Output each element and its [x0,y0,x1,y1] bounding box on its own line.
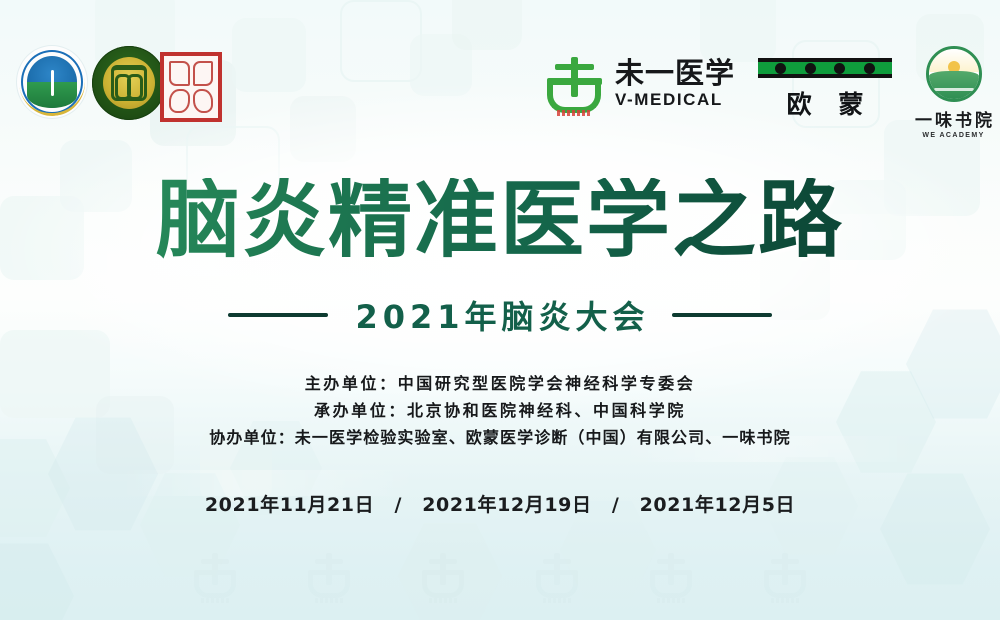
we-academy-mark-icon [926,46,982,102]
organizer-undertaker: 承办单位：北京协和医院神经科、中国科学院 [0,397,1000,424]
date-separator-1: / [394,494,402,516]
we-academy-logo-icon: 一味书院 WE ACADEMY [912,46,995,139]
we-academy-name-en: WE ACADEMY [922,132,984,139]
subtitle-block: 2021年脑炎大会 [0,292,1000,338]
v-medical-watermark-icon [649,550,693,602]
rule-right [672,313,772,317]
v-medical-watermark-icon [763,550,807,602]
red-seal-stamp-icon [160,56,222,118]
organizers-block: 主办单位：中国研究型医院学会神经科学专委会 承办单位：北京协和医院神经科、中国科… [0,370,1000,451]
oumeng-logo-icon: 欧 蒙 [758,58,892,121]
watermark-row [0,550,1000,602]
v-medical-watermark-icon [535,550,579,602]
v-medical-logo-icon: 未一医学 V-MEDICAL [545,53,735,115]
oumeng-name-cn: 欧 蒙 [778,85,873,121]
v-medical-watermark-icon [421,550,465,602]
v-medical-name-cn: 未一医学 [615,58,735,88]
conference-poster: 未一医学 V-MEDICAL 欧 蒙 一味书院 WE ACADEMY 脑炎精准医… [0,0,1000,620]
round-green-gold-emblem-icon [92,46,166,120]
v-medical-name-en: V-MEDICAL [615,90,723,110]
dates-row: 2021年11月21日 / 2021年12月19日 / 2021年12月5日 [0,490,1000,517]
organizer-coorganizer: 协办单位：未一医学检验实验室、欧蒙医学诊断（中国）有限公司、一味书院 [0,424,1000,451]
v-medical-watermark-icon [307,550,351,602]
we-academy-name-cn: 一味书院 [912,106,995,131]
date-item-2: 2021年12月19日 [422,494,591,516]
v-medical-mark-icon [545,53,603,115]
oumeng-band-icon [758,58,892,78]
organizer-host: 主办单位：中国研究型医院学会神经科学专委会 [0,370,1000,397]
v-medical-watermark-icon [193,550,237,602]
page-subtitle: 2021年脑炎大会 [350,292,649,338]
title-block: 脑炎精准医学之路 [0,178,1000,262]
rule-left [228,313,328,317]
date-separator-2: / [612,494,620,516]
page-title: 脑炎精准医学之路 [0,178,1000,262]
logo-bar: 未一医学 V-MEDICAL 欧 蒙 一味书院 WE ACADEMY [0,0,1000,140]
date-item-1: 2021年11月21日 [205,494,374,516]
date-item-3: 2021年12月5日 [640,494,796,516]
round-academic-emblem-icon [16,46,88,118]
